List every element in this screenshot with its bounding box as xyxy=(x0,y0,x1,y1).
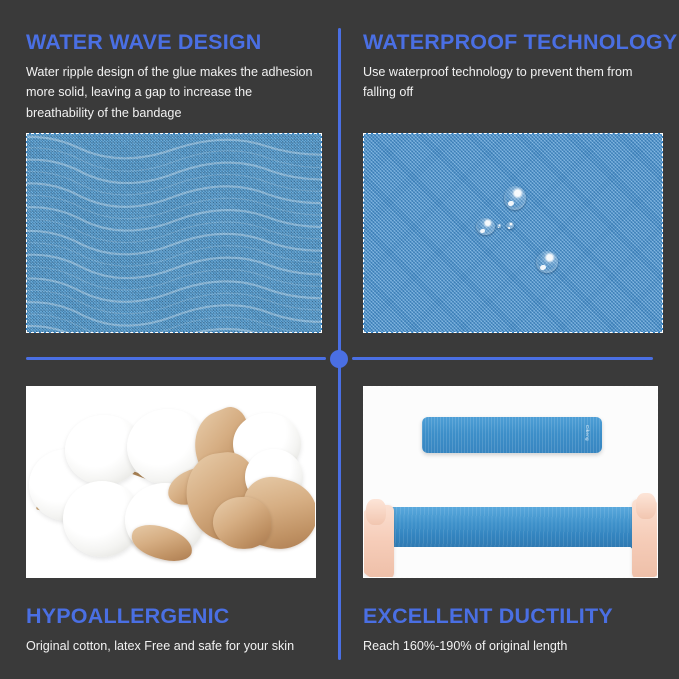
ripple-pattern-overlay xyxy=(27,134,321,332)
left-thumb xyxy=(366,499,386,525)
water-droplet xyxy=(536,251,558,273)
bandage-strip: Cikeng xyxy=(422,417,602,453)
panel-heading: WATERPROOF TECHNOLOGY xyxy=(363,30,677,55)
cotton-bolls-image xyxy=(26,386,316,578)
water-droplet xyxy=(497,224,501,228)
ductility-demo-image: Cikeng xyxy=(363,386,658,578)
water-droplet xyxy=(476,218,495,235)
panel-body: Water ripple design of the glue makes th… xyxy=(26,62,322,123)
water-droplet xyxy=(504,186,526,210)
panel-waterproof-technology: WATERPROOF TECHNOLOGY Use waterproof tec… xyxy=(341,0,679,357)
infographic-board: WATER WAVE DESIGN Water ripple design of… xyxy=(0,0,679,679)
panel-heading: HYPOALLERGENIC xyxy=(26,604,229,629)
panel-body: Use waterproof technology to prevent the… xyxy=(363,62,663,103)
water-droplet xyxy=(506,222,514,229)
waterproof-fabric-image xyxy=(363,133,663,333)
fabric-weave-texture xyxy=(364,134,662,332)
stretched-bandage xyxy=(376,507,648,547)
panel-water-wave-design: WATER WAVE DESIGN Water ripple design of… xyxy=(0,0,338,357)
panel-heading: WATER WAVE DESIGN xyxy=(26,30,262,55)
water-wave-fabric-image xyxy=(26,133,322,333)
center-dot-marker xyxy=(330,350,348,368)
panel-body: Reach 160%-190% of original length xyxy=(363,636,663,656)
panel-hypoallergenic: HYPOALLERGENIC Original cotton, latex Fr… xyxy=(0,360,338,679)
right-thumb xyxy=(636,493,656,519)
bandage-brand-label: Cikeng xyxy=(585,425,590,441)
panel-excellent-ductility: Cikeng EXCELLENT DUCTILITY Reach 160%-19… xyxy=(341,360,679,679)
panel-heading: EXCELLENT DUCTILITY xyxy=(363,604,613,629)
panel-body: Original cotton, latex Free and safe for… xyxy=(26,636,326,656)
